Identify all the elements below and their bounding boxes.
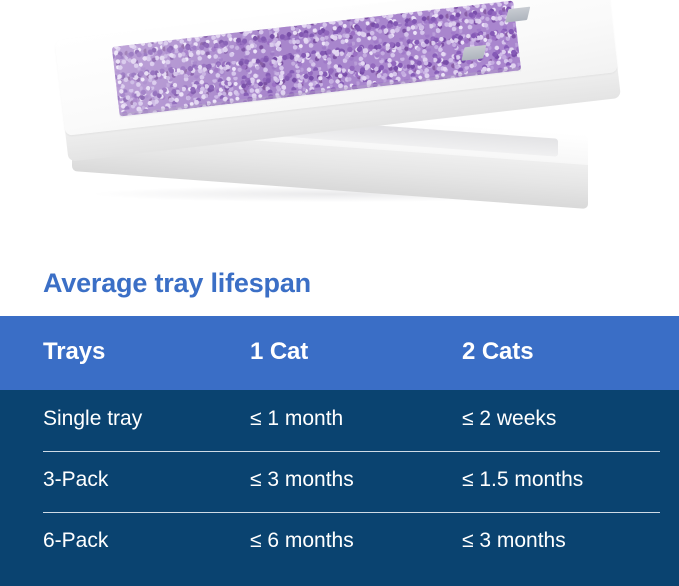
row-divider	[43, 451, 660, 452]
table-body: Single tray ≤ 1 month ≤ 2 weeks 3-Pack ≤…	[0, 390, 679, 586]
cell-trays: 6-Pack	[43, 529, 108, 553]
cell-trays: Single tray	[43, 407, 142, 431]
table-row: Single tray ≤ 1 month ≤ 2 weeks	[0, 390, 679, 451]
photo-stage	[0, 0, 679, 250]
product-infographic: Average tray lifespan Trays 1 Cat 2 Cats…	[0, 0, 679, 586]
cell-trays: 3-Pack	[43, 468, 108, 492]
cell-one-cat: ≤ 3 months	[250, 468, 354, 492]
table-header-row: Trays 1 Cat 2 Cats	[0, 316, 679, 390]
column-header-two-cats: 2 Cats	[462, 338, 533, 366]
product-photo	[0, 0, 679, 250]
cell-one-cat: ≤ 1 month	[250, 407, 343, 431]
table-row: 3-Pack ≤ 3 months ≤ 1.5 months	[0, 451, 679, 512]
table-row: 6-Pack ≤ 6 months ≤ 3 months	[0, 512, 679, 573]
row-divider	[43, 512, 660, 513]
cell-two-cats: ≤ 2 weeks	[462, 407, 556, 431]
section-title: Average tray lifespan	[43, 268, 311, 299]
cell-one-cat: ≤ 6 months	[250, 529, 354, 553]
column-header-trays: Trays	[43, 338, 105, 366]
column-header-one-cat: 1 Cat	[250, 338, 308, 366]
cell-two-cats: ≤ 1.5 months	[462, 468, 583, 492]
lifespan-table: Trays 1 Cat 2 Cats Single tray ≤ 1 month…	[0, 316, 679, 586]
cell-two-cats: ≤ 3 months	[462, 529, 566, 553]
